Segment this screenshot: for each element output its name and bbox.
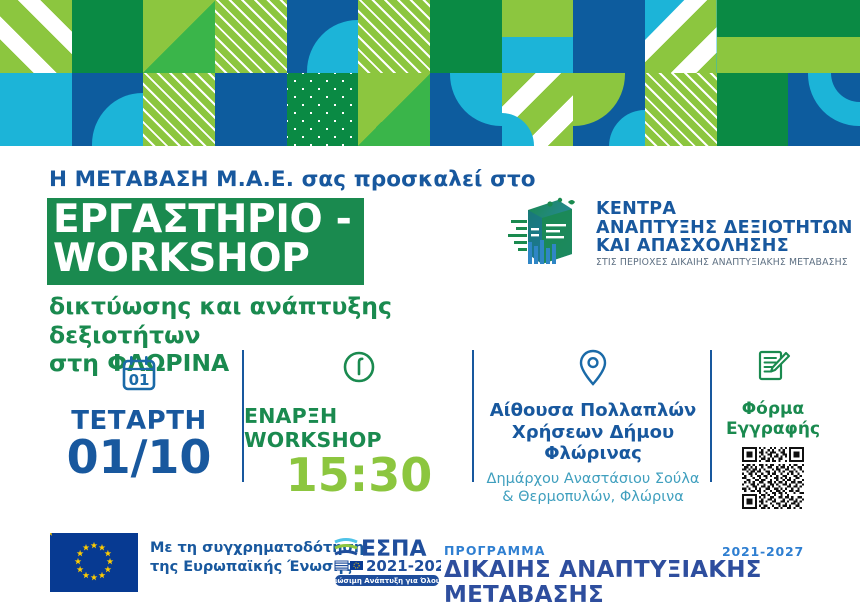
mosaic-tile [573, 73, 645, 146]
keda-line-2: ΑΝΑΠΤΥΞΗΣ ΔΕΞΙΟΤΗΤΩΝ [596, 219, 853, 238]
time-label: ΕΝΑΡΞΗ WORKSHOP [244, 404, 474, 452]
mosaic-tile [645, 0, 717, 73]
mosaic-tile [215, 0, 287, 73]
info-column-registration[interactable]: Φόρμα Εγγραφής [712, 348, 834, 494]
mosaic-tile [0, 0, 72, 73]
mosaic-tile [0, 73, 72, 146]
mosaic-tile [358, 0, 430, 73]
footer: Με τη συγχρηματοδότηση της Ευρωπαϊκής Έν… [0, 520, 860, 603]
mosaic-tile [645, 73, 717, 146]
mosaic-row-bottom [0, 73, 860, 146]
programme-years: 2021-2027 [722, 544, 804, 559]
mosaic-tile [143, 0, 215, 73]
venue-line-2: Χρήσεων Δήμου [490, 422, 697, 444]
title-line-1: ΕΡΓΑΣΤΗΡΙΟ - [53, 200, 352, 240]
qr-code-icon[interactable] [742, 447, 804, 509]
mosaic-tile [287, 0, 359, 73]
keda-logo: ΚΕΝΤΡΑ ΑΝΑΠΤΥΞΗΣ ΔΕΞΙΟΤΗΤΩΝ ΚΑΙ ΑΠΑΣΧΟΛΗ… [508, 196, 853, 272]
mosaic-tile [502, 0, 574, 73]
mosaic-tile [72, 0, 144, 73]
mosaic-tile [215, 73, 287, 146]
mosaic-tile [143, 73, 215, 146]
mosaic-tile [788, 0, 860, 73]
keda-line-4: ΣΤΙΣ ΠΕΡΙΟΧΕΣ ΔΙΚΑΙΗΣ ΑΝΑΠΤΥΞΙΑΚΗΣ ΜΕΤΑΒ… [596, 258, 853, 268]
mosaic-tile [717, 73, 789, 146]
registration-label-1: Φόρμα [726, 400, 820, 420]
mosaic-tile [287, 73, 359, 146]
info-column-date: 01 ΤΕΤΑΡΤΗ 01/10 [34, 348, 244, 494]
time-value: 15:30 [286, 452, 432, 498]
mosaic-tile [502, 73, 574, 146]
keda-logo-text: ΚΕΝΤΡΑ ΑΝΑΠΤΥΞΗΣ ΔΕΞΙΟΤΗΤΩΝ ΚΑΙ ΑΠΑΣΧΟΛΗ… [596, 200, 853, 267]
keda-line-3: ΚΑΙ ΑΠΑΣΧΟΛΗΣΗΣ [596, 237, 853, 256]
info-column-time: ΕΝΑΡΞΗ WORKSHOP 15:30 [244, 348, 474, 494]
registration-label-2: Εγγραφής [726, 420, 820, 440]
title-line-2: WORKSHOP [53, 239, 352, 279]
clock-icon [341, 348, 377, 386]
registration-label: Φόρμα Εγγραφής [726, 400, 820, 439]
decorative-mosaic-banner [0, 0, 860, 146]
eu-flag-icon [50, 533, 138, 592]
keda-line-1: ΚΕΝΤΡΑ [596, 200, 853, 219]
svg-text:01: 01 [129, 371, 150, 389]
location-pin-icon [577, 348, 609, 388]
subtitle-line-1: δικτύωσης και ανάπτυξης δεξιοτήτων [49, 292, 507, 349]
venue-name: Αίθουσα Πολλαπλών Χρήσεων Δήμου Φλώρινας [490, 400, 697, 465]
mosaic-tile [430, 0, 502, 73]
title-highlight-box: ΕΡΓΑΣΤΗΡΙΟ - WORKSHOP [47, 198, 364, 286]
mosaic-row-top [0, 0, 860, 73]
form-pencil-icon [755, 348, 791, 388]
mosaic-tile [358, 73, 430, 146]
mosaic-tile [788, 73, 860, 146]
venue-address: Δημάρχου Αναστάσιου Σούλα & Θερμοπυλών, … [487, 470, 700, 506]
venue-line-3: Φλώρινας [490, 443, 697, 465]
building-skills-icon [508, 196, 586, 272]
programme-name: ΔΙΚΑΙΗΣ ΑΝΑΠΤΥΞΙΑΚΗΣ ΜΕΤΑΒΑΣΗΣ [444, 558, 860, 608]
calendar-icon: 01 [121, 348, 157, 392]
venue-line-1: Αίθουσα Πολλαπλών [490, 400, 697, 422]
event-info-strip: 01 ΤΕΤΑΡΤΗ 01/10 ΕΝΑΡΞΗ WORKSHOP 15:30 [34, 348, 834, 494]
mosaic-tile [430, 73, 502, 146]
kicker-text: Η ΜΕΤΑΒΑΣΗ Μ.Α.Ε. σας προσκαλεί στο [49, 168, 507, 192]
mosaic-tile [717, 0, 789, 73]
mosaic-tile [72, 73, 144, 146]
date-value: 01/10 [67, 434, 212, 480]
headline-block: Η ΜΕΤΑΒΑΣΗ Μ.Α.Ε. σας προσκαλεί στο ΕΡΓΑ… [47, 168, 507, 378]
poster: Η ΜΕΤΑΒΑΣΗ Μ.Α.Ε. σας προσκαλεί στο ΕΡΓΑ… [0, 0, 860, 603]
info-column-venue: Αίθουσα Πολλαπλών Χρήσεων Δήμου Φλώρινας… [474, 348, 712, 494]
svg-text:Βιώσιμη Ανάπτυξη για Όλους: Βιώσιμη Ανάπτυξη για Όλους [333, 577, 441, 585]
mosaic-tile [573, 0, 645, 73]
address-line-1: Δημάρχου Αναστάσιου Σούλα [487, 470, 700, 488]
svg-text:2021-2027: 2021-2027 [366, 557, 441, 575]
address-line-2: & Θερμοπυλών, Φλώρινα [487, 488, 700, 506]
espa-logo: ΕΣΠΑ 2021-2027 Βιώσιμη Ανάπτυξη για Όλου… [333, 533, 441, 590]
